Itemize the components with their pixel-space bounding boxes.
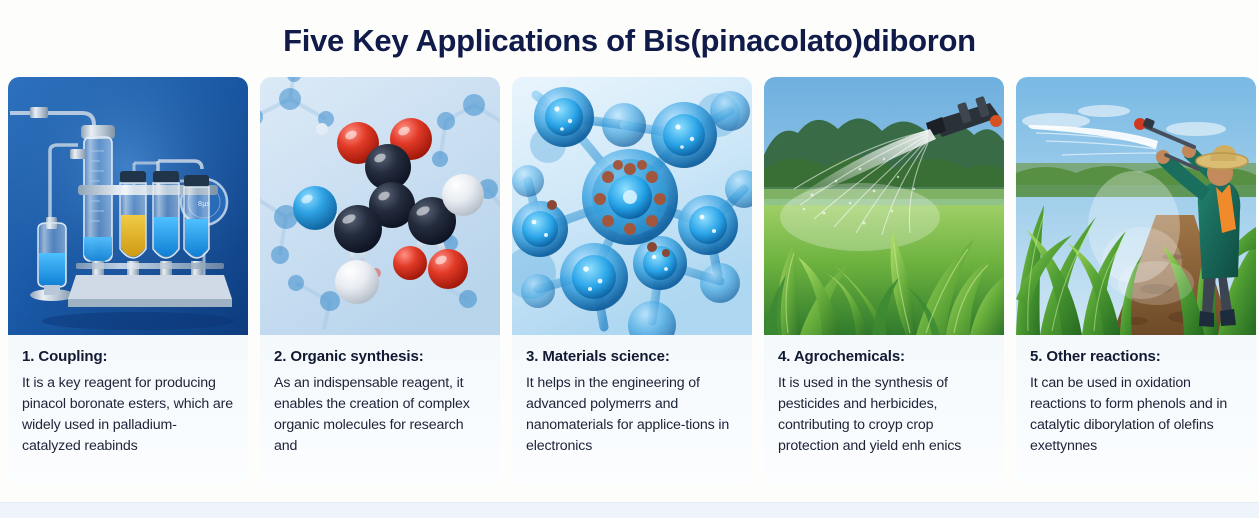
card-body: 3. Materials science: It helps in the en… — [512, 335, 752, 485]
card-image-crop-spraying — [764, 77, 1004, 335]
card-image-laboratory-glassware: 8μs — [8, 77, 248, 335]
application-card[interactable]: 5. Other reactions: It can be used in ox… — [1016, 77, 1256, 485]
card-body: 2. Organic synthesis: As an indispensabl… — [260, 335, 500, 485]
card-body: 4. Agrochemicals: It is used in the synt… — [764, 335, 1004, 485]
card-text: It helps in the engineering of advanced … — [526, 373, 738, 457]
card-heading: 2. Organic synthesis: — [274, 348, 486, 366]
page-title: Five Key Applications of Bis(pinacolato)… — [0, 0, 1259, 58]
laboratory-glassware-icon: 8μs — [8, 77, 248, 335]
application-card[interactable]: 3. Materials science: It helps in the en… — [512, 77, 752, 485]
card-text: It can be used in oxidation reactions to… — [1030, 373, 1242, 457]
card-text: It is used in the synthesis of pesticide… — [778, 373, 990, 457]
card-text: It is a key reagent for producing pinaco… — [22, 373, 234, 457]
card-heading: 5. Other reactions: — [1030, 348, 1242, 366]
application-card[interactable]: 8μs — [8, 77, 248, 485]
card-text: As an indispensable reagent, it enables … — [274, 373, 486, 457]
card-image-molecule-model — [260, 77, 500, 335]
card-body: 5. Other reactions: It can be used in ox… — [1016, 335, 1256, 485]
card-heading: 1. Coupling: — [22, 348, 234, 366]
crop-spray-nozzle-icon — [764, 77, 1004, 335]
bottom-divider-band — [0, 502, 1259, 518]
card-body: 1. Coupling: It is a key reagent for pro… — [8, 335, 248, 485]
card-heading: 4. Agrochemicals: — [778, 348, 990, 366]
ball-and-stick-molecule-icon — [260, 77, 500, 335]
card-image-farmer-spraying — [1016, 77, 1256, 335]
nanomaterial-network-icon — [512, 77, 752, 335]
card-image-nanomaterial-network — [512, 77, 752, 335]
card-heading: 3. Materials science: — [526, 348, 738, 366]
application-card[interactable]: 4. Agrochemicals: It is used in the synt… — [764, 77, 1004, 485]
application-card-strip: 8μs — [0, 77, 1259, 485]
application-card[interactable]: 2. Organic synthesis: As an indispensabl… — [260, 77, 500, 485]
farmer-spraying-field-icon — [1016, 77, 1256, 335]
